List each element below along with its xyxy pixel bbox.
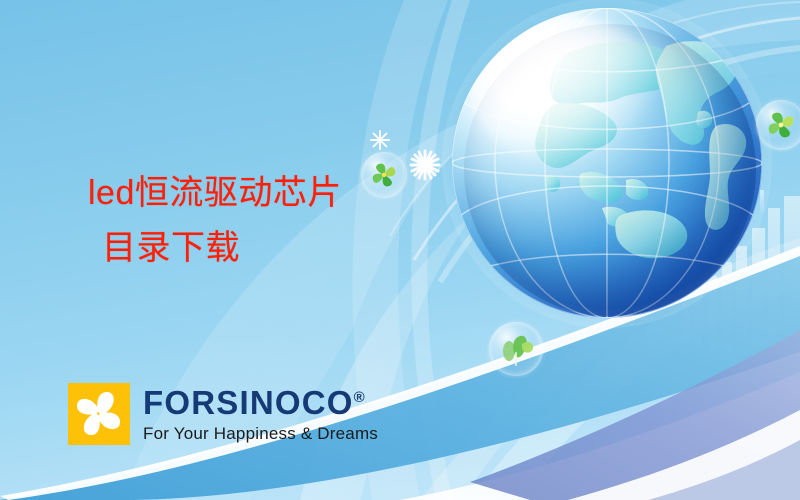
headline-line-1: led恒流驱动芯片 (88, 174, 342, 212)
brand-name: FORSINOCO® (143, 386, 378, 419)
banner-image: led恒流驱动芯片 目录下载 FORSINOCO® For Your Happi… (0, 0, 800, 500)
bubble-leaf-icon (489, 322, 543, 376)
globe-highlight (471, 17, 663, 166)
bubble-pinwheel-icon (361, 152, 407, 198)
bubble-inner-pinwheel (756, 100, 800, 150)
logo-text-block: FORSINOCO® For Your Happiness & Dreams (143, 386, 378, 442)
headline-text: led恒流驱动芯片 目录下载 (88, 166, 342, 276)
brand-word: FORSINOCO (143, 384, 354, 421)
bubble-inner-leaf (489, 322, 543, 376)
snowflake-icon (370, 130, 390, 150)
brand-logo: FORSINOCO® For Your Happiness & Dreams (68, 383, 378, 445)
four-petal-pinwheel-icon (68, 383, 130, 445)
headline-line-2: 目录下载 (88, 221, 342, 276)
logo-mark-icon (68, 383, 130, 445)
brand-tagline: For Your Happiness & Dreams (143, 425, 378, 442)
globe-icon (452, 8, 762, 318)
bubble-pinwheel-icon (756, 100, 800, 150)
registered-mark: ® (354, 389, 365, 406)
flower-asterisk-icon (408, 148, 442, 182)
bubble-inner-pinwheel (361, 152, 407, 198)
